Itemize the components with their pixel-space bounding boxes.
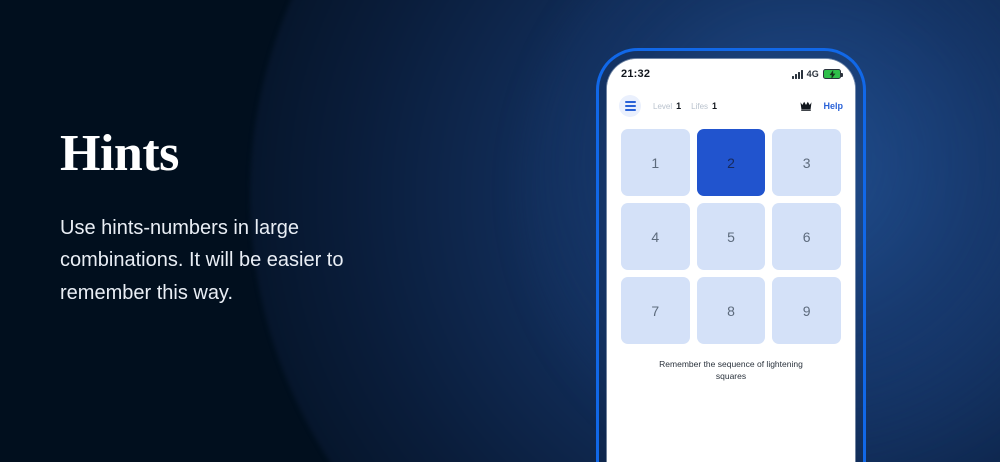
hamburger-menu-icon[interactable] xyxy=(619,95,641,117)
stat-level: Level 1 xyxy=(653,101,681,111)
status-time: 21:32 xyxy=(621,68,650,80)
crown-icon[interactable] xyxy=(800,101,812,111)
marketing-copy: Hints Use hints-numbers in large combina… xyxy=(60,128,400,309)
signal-bars-icon xyxy=(792,70,803,79)
stat-lifes: Lifes 1 xyxy=(691,101,717,111)
charging-bolt-icon xyxy=(829,70,836,79)
game-stats: Level 1 Lifes 1 xyxy=(653,101,717,111)
grid-cell-7[interactable]: 7 xyxy=(621,277,690,344)
stat-lifes-value: 1 xyxy=(712,101,717,111)
phone-mockup: 21:32 4G xyxy=(596,48,866,462)
status-indicators: 4G xyxy=(792,69,841,79)
grid-cell-8[interactable]: 8 xyxy=(697,277,766,344)
network-label: 4G xyxy=(807,69,819,79)
grid-cell-3[interactable]: 3 xyxy=(772,129,841,196)
grid-cell-1[interactable]: 1 xyxy=(621,129,690,196)
help-link[interactable]: Help xyxy=(823,101,843,111)
game-area: 123456789 Remember the sequence of light… xyxy=(607,123,855,383)
stat-lifes-label: Lifes xyxy=(691,102,708,111)
page-description: Use hints-numbers in large combinations.… xyxy=(60,212,400,309)
page-title: Hints xyxy=(60,128,400,180)
grid-cell-5[interactable]: 5 xyxy=(697,203,766,270)
grid-cell-9[interactable]: 9 xyxy=(772,277,841,344)
grid-cell-4[interactable]: 4 xyxy=(621,203,690,270)
phone-screen: 21:32 4G xyxy=(607,59,855,462)
phone-bezel: 21:32 4G xyxy=(607,59,855,462)
status-bar: 21:32 4G xyxy=(607,59,855,89)
grid-cell-2[interactable]: 2 xyxy=(697,129,766,196)
number-grid[interactable]: 123456789 xyxy=(621,129,841,344)
game-caption: Remember the sequence of lightening squa… xyxy=(621,358,841,383)
stat-level-label: Level xyxy=(653,102,672,111)
stat-level-value: 1 xyxy=(676,101,681,111)
grid-cell-6[interactable]: 6 xyxy=(772,203,841,270)
app-nav-bar: Level 1 Lifes 1 Help xyxy=(607,89,855,123)
nav-actions: Help xyxy=(800,101,843,111)
battery-charging-icon xyxy=(823,69,841,79)
